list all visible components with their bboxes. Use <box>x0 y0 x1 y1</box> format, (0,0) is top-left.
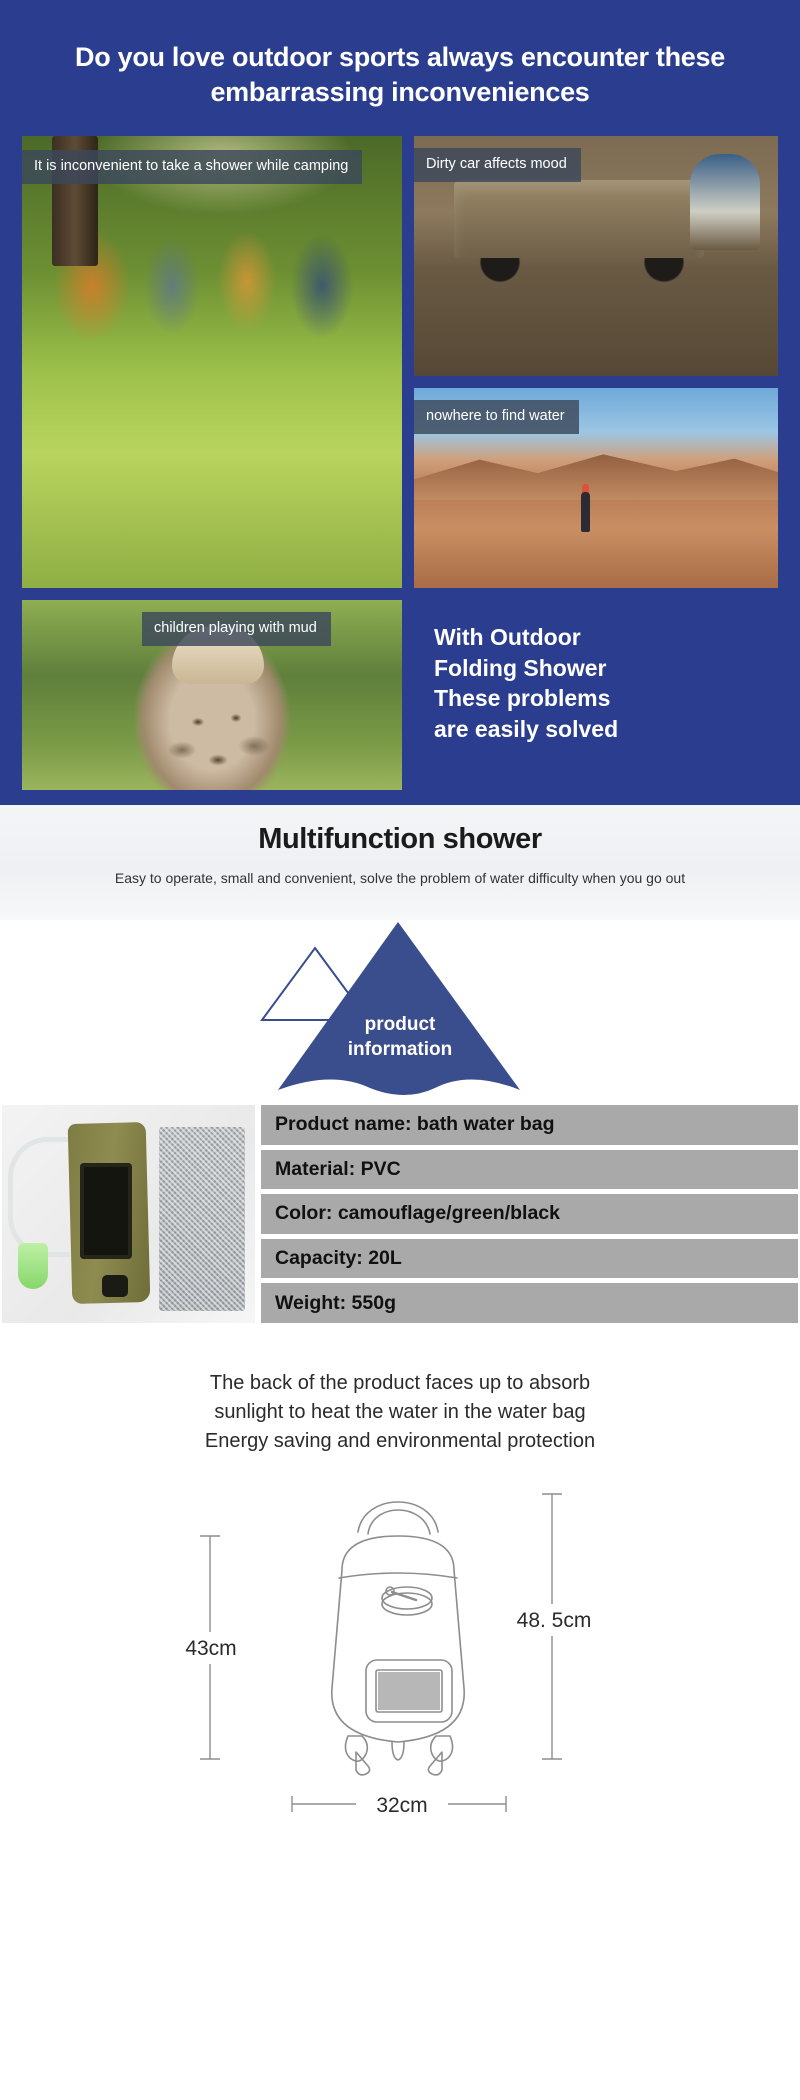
note-line-1: The back of the product faces up to abso… <box>40 1369 760 1398</box>
product-photo <box>2 1105 255 1323</box>
photo-camping: It is inconvenient to take a shower whil… <box>22 136 402 588</box>
spec-row-weight: Weight: 550g <box>261 1283 798 1323</box>
page-title: Do you love outdoor sports always encoun… <box>0 34 800 110</box>
photo-collage: It is inconvenient to take a shower whil… <box>22 136 778 776</box>
solution-text-block: With Outdoor Folding Shower These proble… <box>414 600 778 790</box>
solution-line-2: Folding Shower <box>434 653 778 684</box>
bag-clip <box>102 1275 128 1297</box>
caption-dirty-car: Dirty car affects mood <box>414 148 581 182</box>
product-detail-page: Do you love outdoor sports always encoun… <box>0 0 800 2100</box>
mesh-towel <box>159 1127 245 1311</box>
solution-line-4: are easily solved <box>434 714 778 745</box>
note-line-2: sunlight to heat the water in the water … <box>40 1398 760 1427</box>
caption-mud-child: children playing with mud <box>142 612 331 646</box>
dimension-label-width: 32cm <box>376 1794 427 1817</box>
dimension-drawing-section: 43cm 48. 5cm 32cm <box>0 1474 800 1854</box>
hose-shape <box>8 1137 70 1257</box>
solar-mesh-fill <box>378 1672 440 1710</box>
dimension-label-height-left: 43cm <box>185 1637 236 1660</box>
photo-dirty-car: Dirty car affects mood <box>414 136 778 376</box>
hero-section: Do you love outdoor sports always encoun… <box>0 0 800 805</box>
photo-desert: nowhere to find water <box>414 388 778 588</box>
spec-table: Product name: bath water bag Material: P… <box>261 1105 798 1323</box>
note-line-3: Energy saving and environmental protecti… <box>40 1427 760 1456</box>
photo-mud-child: children playing with mud <box>22 600 402 790</box>
caption-desert: nowhere to find water <box>414 400 579 434</box>
triangle-icon <box>220 920 580 1105</box>
solution-line-3: These problems <box>434 683 778 714</box>
solution-line-1: With Outdoor <box>434 622 778 653</box>
sunlight-note-section: The back of the product faces up to abso… <box>0 1323 800 1456</box>
solution-text: With Outdoor Folding Shower These proble… <box>414 600 778 744</box>
spec-row-capacity: Capacity: 20L <box>261 1239 798 1279</box>
spec-row-color: Color: camouflage/green/black <box>261 1194 798 1234</box>
nozzle-shape <box>18 1243 48 1289</box>
sunlight-note: The back of the product faces up to abso… <box>0 1323 800 1456</box>
spec-row-material: Material: PVC <box>261 1150 798 1190</box>
specification-section: Product name: bath water bag Material: P… <box>0 1105 800 1323</box>
multifunction-band: Multifunction shower Easy to operate, sm… <box>0 805 800 920</box>
product-dimension-drawing: 43cm 48. 5cm 32cm <box>120 1474 680 1844</box>
camping-image <box>22 136 402 588</box>
spec-row-product-name: Product name: bath water bag <box>261 1105 798 1145</box>
caption-camping: It is inconvenient to take a shower whil… <box>22 150 362 184</box>
triangle-badge-graphic <box>0 920 800 1105</box>
section-heading: Multifunction shower <box>0 823 800 856</box>
product-information-badge: product information <box>0 920 800 1105</box>
dimension-label-height-right: 48. 5cm <box>517 1609 592 1632</box>
section-subheading: Easy to operate, small and convenient, s… <box>0 870 800 886</box>
bag-mesh-panel <box>80 1163 132 1259</box>
